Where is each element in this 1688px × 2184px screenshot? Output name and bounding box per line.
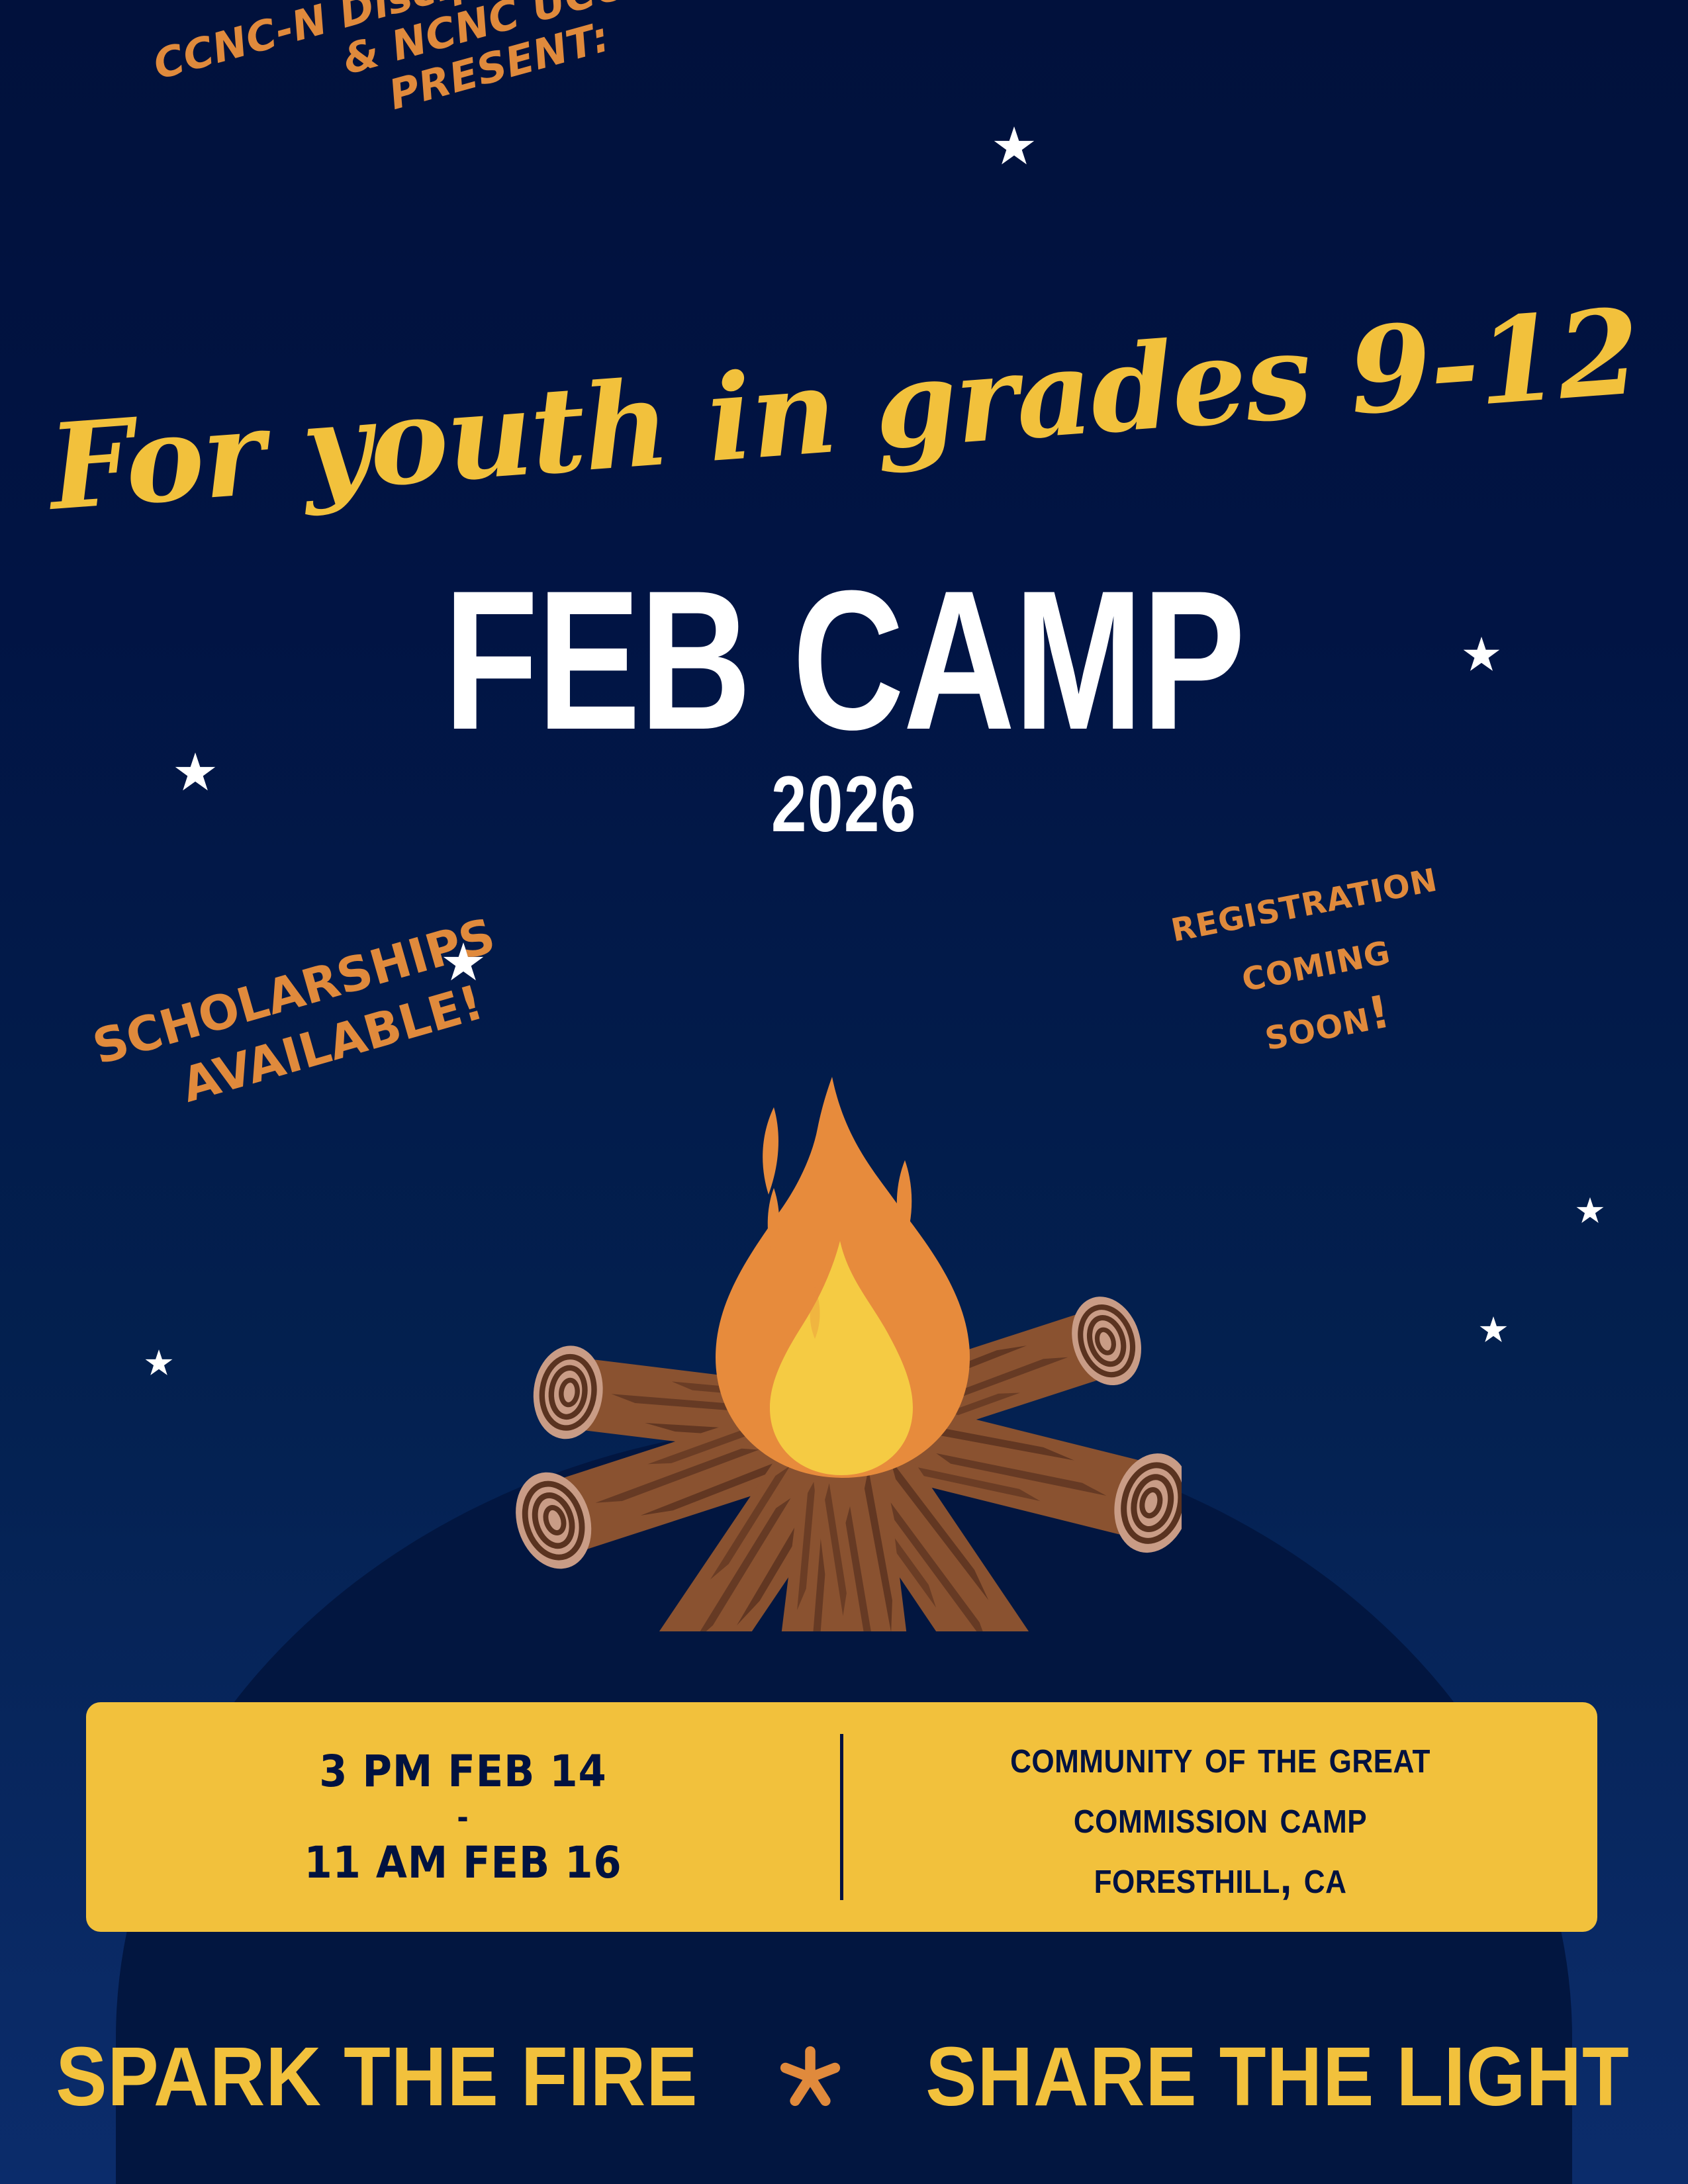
page-title: FEB CAMP [186,566,1503,754]
footer-tagline: SPARK THE FIRE SHARE THE LIGHT [0,2035,1688,2118]
location-line-2: Commission Camp [1074,1787,1367,1847]
star-icon [1479,1316,1507,1344]
info-bar-divider [840,1734,843,1900]
page-title-year: 2026 [169,764,1519,844]
event-location-block: Community of the Great Commission Camp F… [881,1702,1560,1932]
event-start-time: 3 PM FEB 14 [319,1741,606,1801]
tagline-right: SHARE THE LIGHT [926,2035,1630,2118]
campfire-icon [506,1036,1182,1631]
registration-callout: REGISTRATION COMING SOON! [1165,845,1466,1079]
event-end-time: 11 AM FEB 16 [304,1833,622,1893]
poster-canvas: CCNC-N Disciples of Christ & NCNC UCC PR… [0,0,1688,2184]
presenter-kicker: CCNC-N Disciples of Christ & NCNC UCC PR… [79,0,850,196]
star-icon [994,126,1035,167]
event-time-dash: - [457,1802,469,1833]
location-line-1: Community of the Great [1010,1727,1430,1787]
asterisk-icon [776,2040,845,2113]
event-time-block: 3 PM FEB 14 - 11 AM FEB 16 [117,1702,810,1932]
event-info-bar: 3 PM FEB 14 - 11 AM FEB 16 Community of … [86,1702,1597,1932]
star-icon [1576,1197,1604,1225]
audience-headline: For youth in grades 9-12 [0,289,1688,530]
scholarships-callout: SCHOLARSHIPS AVAILABLE! [86,905,518,1136]
star-icon [145,1349,173,1377]
location-line-3: Foresthill, CA [1094,1847,1347,1907]
tagline-left: SPARK THE FIRE [56,2035,698,2118]
